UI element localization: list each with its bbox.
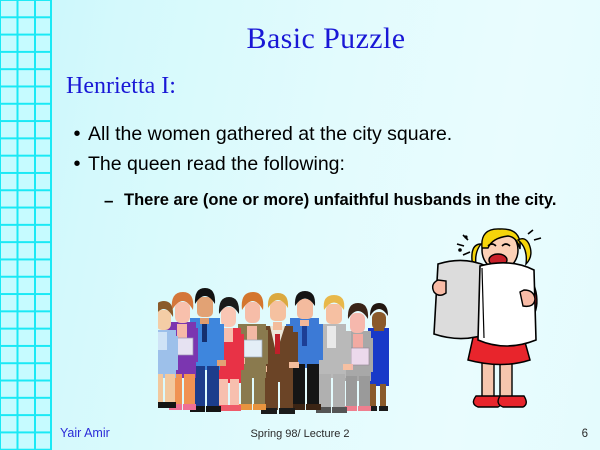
sub-bullet-list: – There are (one or more) unfaithful hus… bbox=[104, 188, 586, 213]
speaker-label: Henrietta I: bbox=[66, 73, 176, 100]
bullet-text: The queen read the following: bbox=[88, 150, 345, 178]
sub-bullet-text: There are (one or more) unfaithful husba… bbox=[124, 188, 556, 213]
bullet-list: • All the women gathered at the city squ… bbox=[66, 120, 586, 213]
slide-canvas: Basic Puzzle Henrietta I: • All the wome… bbox=[0, 0, 600, 450]
dash-marker-icon: – bbox=[104, 188, 124, 213]
page-title: Basic Puzzle bbox=[52, 22, 600, 56]
list-item: – There are (one or more) unfaithful hus… bbox=[104, 188, 586, 213]
bullet-marker-icon: • bbox=[66, 120, 88, 148]
woman-reading-newspaper-clipart bbox=[424, 228, 564, 420]
list-item: • The queen read the following: bbox=[66, 150, 586, 178]
footer-page-number: 6 bbox=[582, 428, 588, 440]
bullet-text: All the women gathered at the city squar… bbox=[88, 120, 452, 148]
footer-course-info: Spring 98/ Lecture 2 bbox=[0, 428, 600, 440]
list-item: • All the women gathered at the city squ… bbox=[66, 120, 586, 148]
left-grid-decoration bbox=[0, 0, 52, 450]
bullet-marker-icon: • bbox=[66, 150, 88, 178]
group-of-people-clipart bbox=[158, 276, 398, 416]
